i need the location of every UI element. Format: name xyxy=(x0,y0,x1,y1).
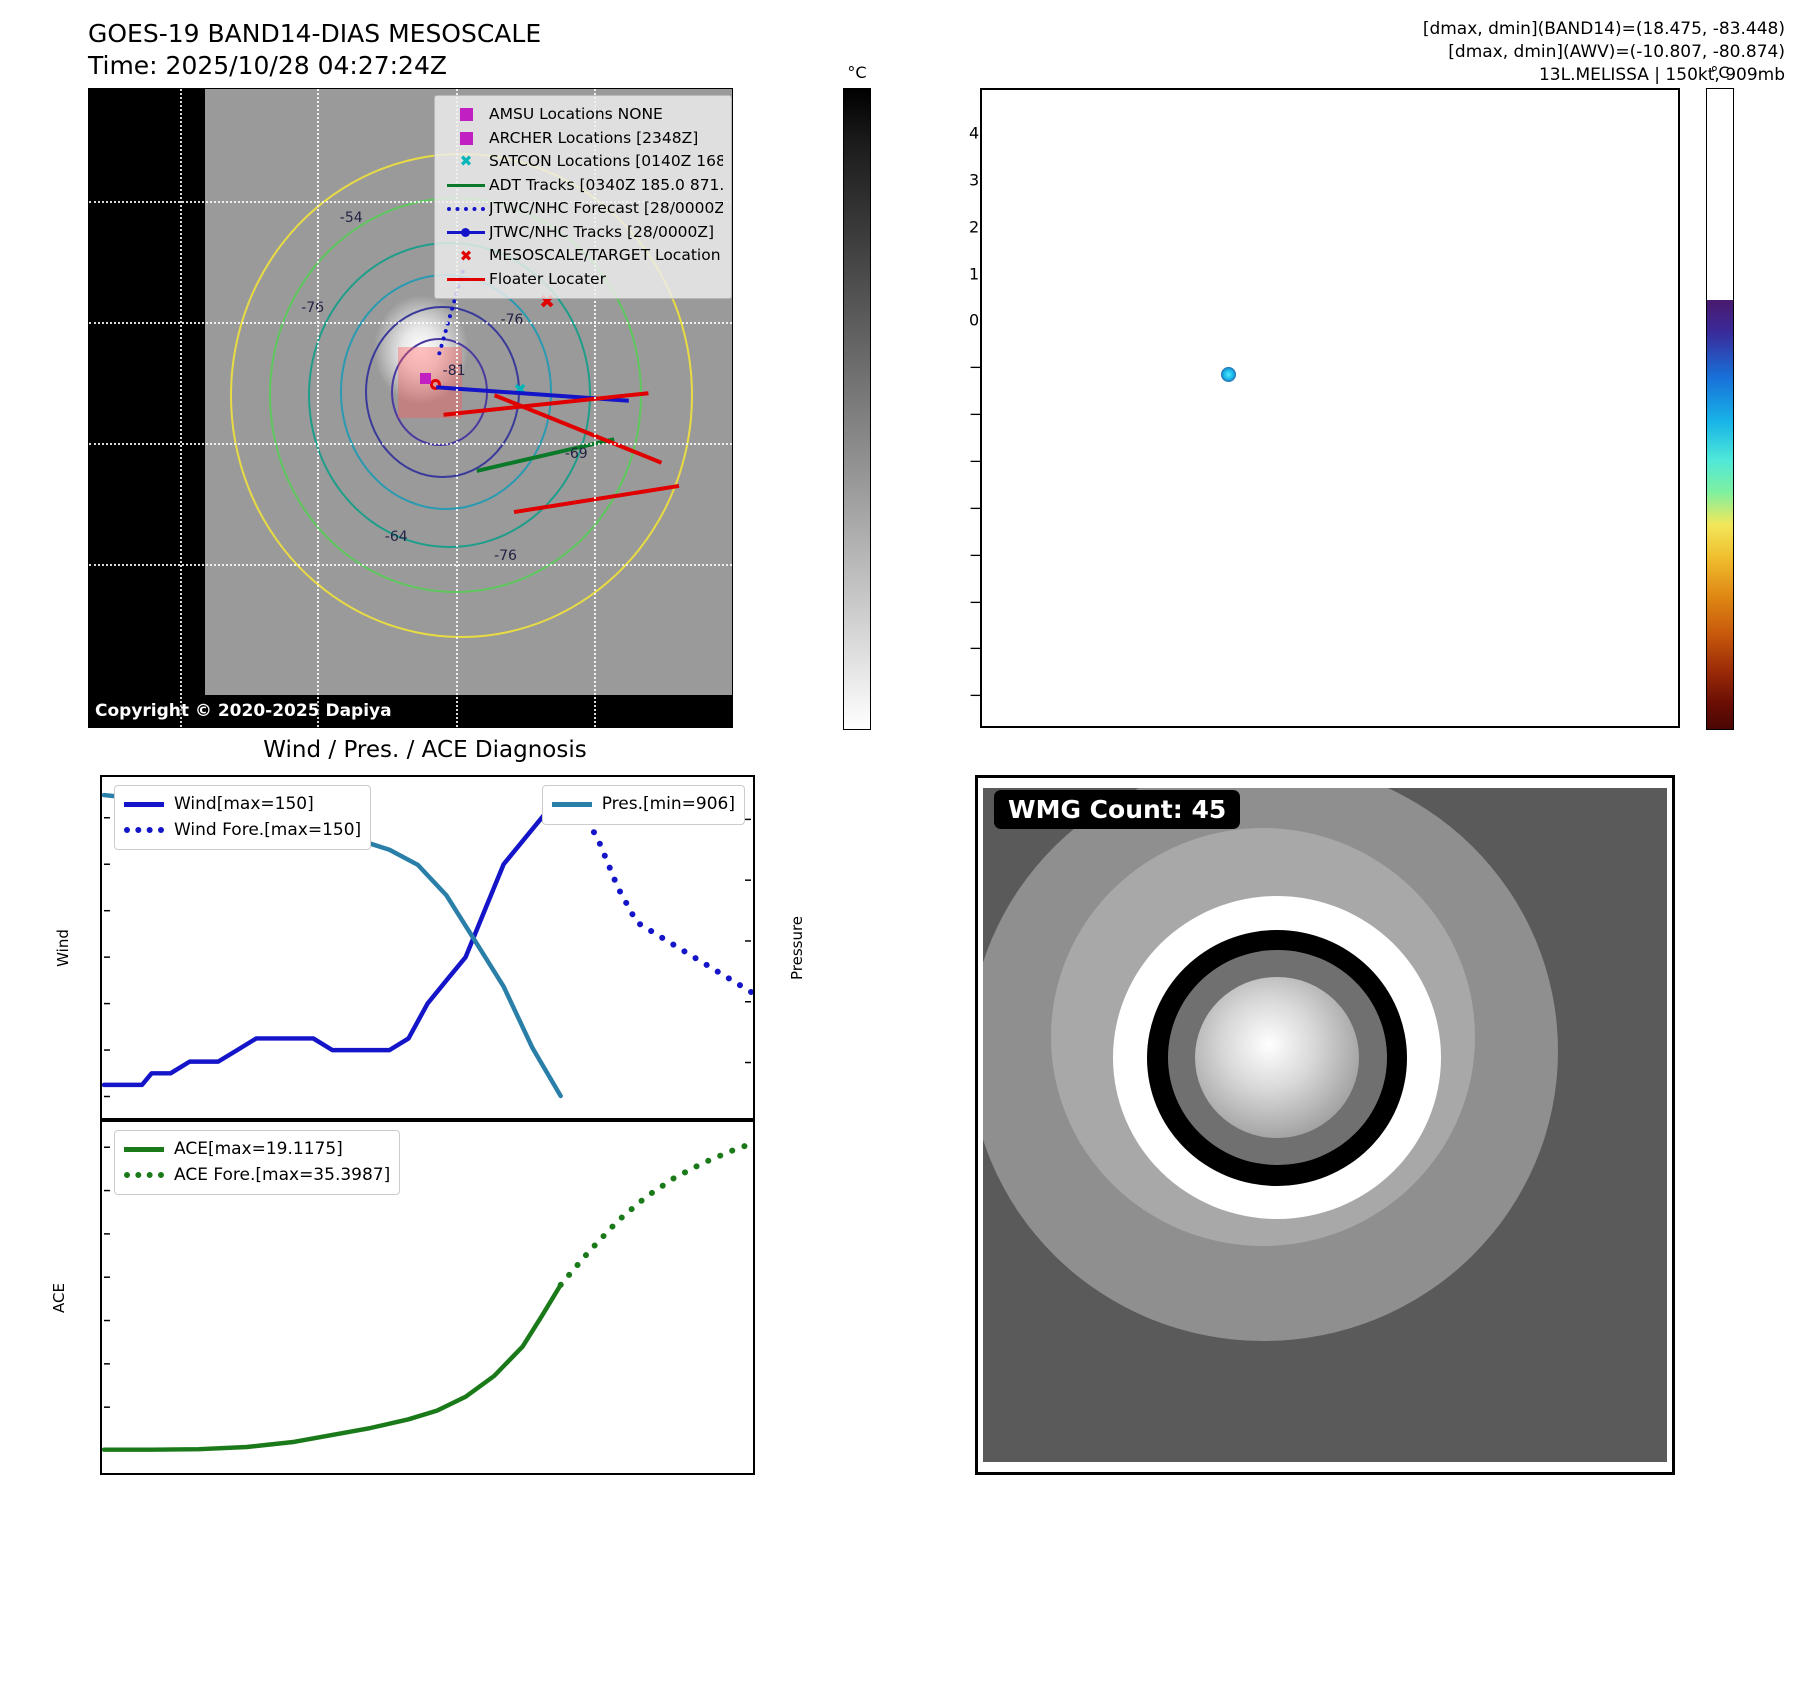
solid-line-icon xyxy=(443,184,489,187)
lon-gridline xyxy=(1598,90,1600,726)
solid-line-icon xyxy=(124,1147,174,1152)
colorbar-gradient-bd xyxy=(1706,88,1734,730)
satellite-ir-panel[interactable]: ✖ ✖ -54 -76 -76 -81 -69 -64 -76 AMSU Loc… xyxy=(88,88,733,728)
lon-gridline xyxy=(1466,90,1468,726)
contour-label: -64 xyxy=(385,529,408,545)
title-line-1: GOES-19 BAND14-DIAS MESOSCALE xyxy=(88,18,541,50)
wind-legend: Wind[max=150] Wind Fore.[max=150] xyxy=(114,785,371,850)
enhanced-ir-image xyxy=(999,93,1632,665)
contour-label: -76 xyxy=(501,312,524,328)
dmax-dmin-awv: [dmax, dmin](AWV)=(-10.807, -80.874) xyxy=(1423,41,1785,64)
dotted-line-icon xyxy=(124,827,174,833)
legend-item-jtwc-tracks[interactable]: JTWC/NHC Tracks [28/0000Z] xyxy=(443,221,723,245)
diagnosis-title: Wind / Pres. / ACE Diagnosis xyxy=(100,737,750,763)
colorbar-unit-label: °C xyxy=(847,63,866,82)
legend-item-amsu[interactable]: AMSU Locations NONE xyxy=(443,103,723,127)
storm-id-intensity: 13L.MELISSA | 150kt, 909mb xyxy=(1423,64,1785,87)
legend-item-jtwc-forecast[interactable]: JTWC/NHC Forecast [28/0000Z] xyxy=(443,197,723,221)
ace-chart[interactable]: ACE 05101520253035 ACE[max=19.1175] ACE … xyxy=(100,1120,755,1475)
solid-line-icon xyxy=(552,802,602,807)
colorbar-unit-label: °C xyxy=(1710,63,1729,82)
dmax-dmin-band14: [dmax, dmin](BAND14)=(18.475, -83.448) xyxy=(1423,18,1785,41)
legend-item-wind[interactable]: Wind[max=150] xyxy=(124,792,361,818)
ace-legend: ACE[max=19.1175] ACE Fore.[max=35.3987] xyxy=(114,1130,400,1195)
page-title: GOES-19 BAND14-DIAS MESOSCALE Time: 2025… xyxy=(88,18,541,82)
filled-square-marker-icon xyxy=(443,108,489,121)
lon-gridline xyxy=(317,89,319,727)
wind-axis-label: Wind xyxy=(54,929,72,967)
legend-item-pressure[interactable]: Pres.[min=906] xyxy=(552,792,735,818)
colorbar-gradient-grayscale xyxy=(843,88,871,730)
dotted-line-icon xyxy=(124,1172,174,1178)
lon-gridline xyxy=(1069,90,1071,726)
contour-label: -81 xyxy=(443,363,466,379)
contour-label: -76 xyxy=(494,548,517,564)
dotted-line-icon xyxy=(443,207,489,211)
pressure-axis-label: Pressure xyxy=(788,915,806,979)
lat-gridline xyxy=(89,564,732,566)
lat-gridline xyxy=(89,443,732,445)
copyright-notice: Copyright © 2020-2025 Dapiya xyxy=(95,701,392,721)
wmg-image xyxy=(983,788,1667,1462)
contour-label: -69 xyxy=(565,446,588,462)
colorbar-tick: 0 xyxy=(969,311,979,330)
legend-item-archer[interactable]: ARCHER Locations [2348Z] xyxy=(443,127,723,151)
solid-line-icon xyxy=(443,278,489,281)
legend-item-mesoscale-target[interactable]: ✖ MESOSCALE/TARGET Location xyxy=(443,244,723,268)
header-metadata: [dmax, dmin](BAND14)=(18.475, -83.448) [… xyxy=(1423,18,1785,87)
x-cross-marker-icon: ✖ xyxy=(443,249,489,264)
legend-item-ace[interactable]: ACE[max=19.1175] xyxy=(124,1137,390,1163)
legend-item-adt-tracks[interactable]: ADT Tracks [0340Z 185.0 871.5] xyxy=(443,174,723,198)
legend-item-floater-locater[interactable]: Floater Locater xyxy=(443,268,723,292)
wmg-count-badge: WMG Count: 45 xyxy=(994,790,1240,829)
legend-item-satcon[interactable]: ✖ SATCON Locations [0140Z 168 902] xyxy=(443,150,723,174)
solid-line-icon xyxy=(124,802,174,807)
ace-axis-label: ACE xyxy=(50,1283,68,1313)
wind-pressure-chart[interactable]: Wind Pressure 20406080100120140920940960… xyxy=(100,775,755,1120)
contour-label: -54 xyxy=(340,210,363,226)
wmg-ring-eye-bright xyxy=(1195,977,1359,1139)
archer-location-marker xyxy=(420,373,431,384)
filled-square-marker-icon xyxy=(443,132,489,145)
lon-gridline xyxy=(180,89,182,727)
enhanced-ir-colorbar: °C 40 30 20 10 0 −10 −20 −30 −40 −50 −60… xyxy=(1706,88,1796,730)
pressure-legend: Pres.[min=906] xyxy=(542,785,745,825)
legend-item-ace-forecast[interactable]: ACE Fore.[max=35.3987] xyxy=(124,1163,390,1189)
lon-gridline xyxy=(1333,90,1335,726)
legend-item-wind-forecast[interactable]: Wind Fore.[max=150] xyxy=(124,818,361,844)
ir-colorbar: °C 40 30 20 10 0 −10 −20 −30 −40 −50 −60… xyxy=(843,88,963,730)
x-cross-marker-icon: ✖ xyxy=(443,154,489,169)
enhanced-ir-panel[interactable]: 20°N 18°N 16°N 14°N 12°N 82°W 80°W 78°W … xyxy=(980,88,1680,728)
title-line-2: Time: 2025/10/28 04:27:24Z xyxy=(88,50,541,82)
lon-gridline xyxy=(1201,90,1203,726)
satellite-legend: AMSU Locations NONE ARCHER Locations [23… xyxy=(434,95,732,299)
lat-gridline xyxy=(89,322,732,324)
coastline-jamaica xyxy=(1240,265,1322,294)
nodata-left xyxy=(89,89,205,727)
eye-center-marker xyxy=(1221,367,1236,382)
wmg-analysis-panel[interactable]: WMG Count: 45 xyxy=(975,775,1675,1475)
contour-label: -76 xyxy=(301,300,324,316)
line-with-dot-marker-icon xyxy=(443,231,489,234)
coastline-overlay xyxy=(1170,162,1271,179)
